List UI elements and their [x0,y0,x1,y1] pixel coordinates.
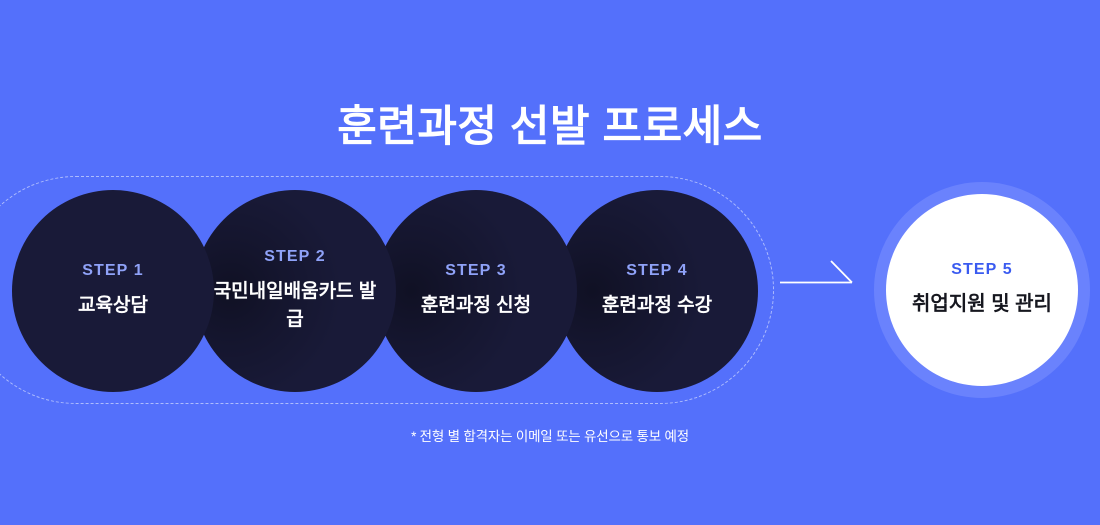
step-title-2: 국민내일배움카드 발급 [209,278,381,333]
step-circle-1[interactable]: STEP 1 교육상담 [12,190,214,392]
step-circle-5[interactable]: STEP 5 취업지원 및 관리 [886,194,1078,386]
footnote-text: * 전형 별 합격자는 이메일 또는 유선으로 통보 예정 [0,425,1100,445]
step-title-1: 교육상담 [78,292,148,320]
step-title-5: 취업지원 및 관리 [912,290,1052,319]
step-title-4: 훈련과정 수강 [602,292,712,320]
arrow-right-icon [780,258,856,294]
step-label-2: STEP 2 [264,248,325,266]
step-label-5: STEP 5 [951,261,1012,279]
step-title-3: 훈련과정 신청 [421,292,531,320]
infographic-stage: 훈련과정 선발 프로세스 STEP 1 교육상담 STEP 2 국민내일배움카드… [0,0,1100,525]
step-circle-4[interactable]: STEP 4 훈련과정 수강 [556,190,758,392]
step-circle-2[interactable]: STEP 2 국민내일배움카드 발급 [194,190,396,392]
step-label-3: STEP 3 [445,262,506,280]
step-label-4: STEP 4 [626,262,687,280]
step-label-1: STEP 1 [82,262,143,280]
step-circle-3[interactable]: STEP 3 훈련과정 신청 [375,190,577,392]
page-title: 훈련과정 선발 프로세스 [0,103,1100,152]
